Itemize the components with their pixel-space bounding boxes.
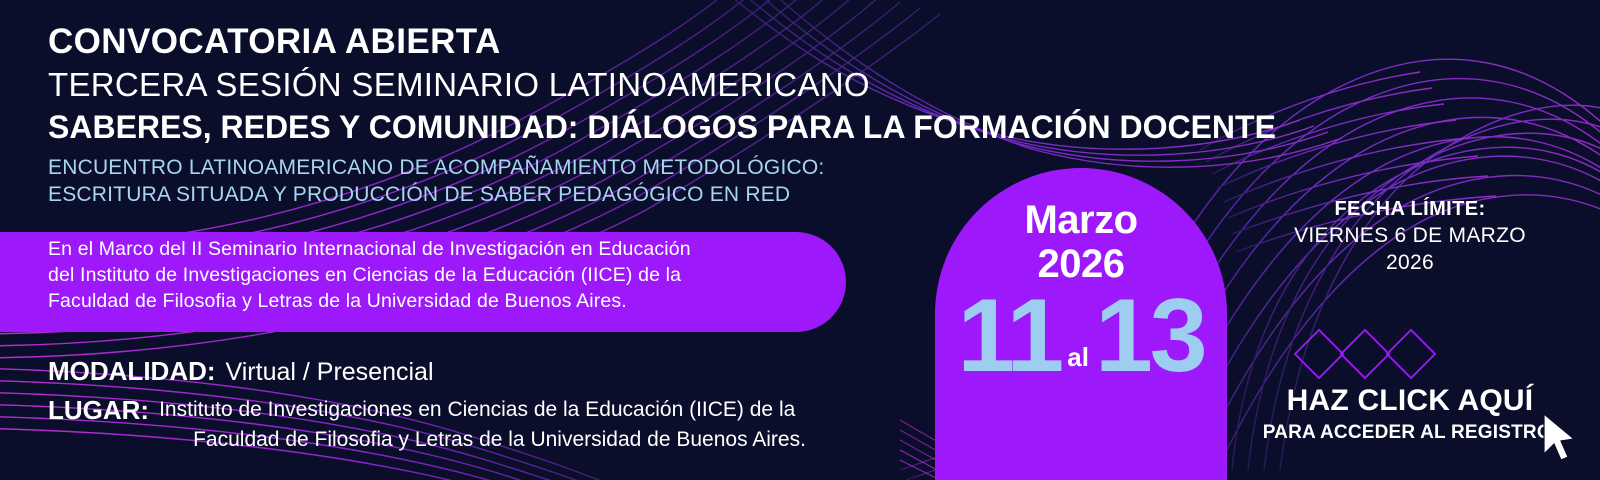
- event-banner: En el Marco del II Seminario Internacion…: [0, 0, 1600, 480]
- deadline-title: FECHA LÍMITE:: [1240, 196, 1580, 222]
- date-range: 11 al 13: [935, 288, 1227, 384]
- cta-block[interactable]: HAZ CLICK AQUÍ PARA ACCEDER AL REGISTRO.: [1240, 382, 1580, 446]
- mouse-cursor-icon: [1540, 412, 1580, 464]
- modalidad-row: MODALIDAD: Virtual / Presencial: [48, 352, 806, 391]
- deadline-line-2: 2026: [1240, 249, 1580, 276]
- context-bubble-line-3: Faculdad de Filosofia y Letras de la Uni…: [48, 288, 818, 314]
- lugar-label: LUGAR:: [48, 391, 149, 429]
- modalidad-label: MODALIDAD:: [48, 352, 216, 390]
- context-bubble-text: En el Marco del II Seminario Internacion…: [48, 236, 818, 314]
- headline-call: CONVOCATORIA ABIERTA: [48, 20, 1548, 64]
- lugar-value: Instituto de Investigaciones en Ciencias…: [149, 391, 806, 455]
- date-connector: al: [1067, 344, 1089, 384]
- date-day-end: 13: [1095, 288, 1205, 384]
- headline-session: TERCERA SESIÓN SEMINARIO LATINOAMERICANO: [48, 64, 1548, 106]
- context-bubble-line-1: En el Marco del II Seminario Internacion…: [48, 236, 818, 262]
- event-details: MODALIDAD: Virtual / Presencial LUGAR: I…: [48, 352, 806, 455]
- headline-block: CONVOCATORIA ABIERTA TERCERA SESIÓN SEMI…: [48, 20, 1548, 208]
- headline-theme: SABERES, REDES Y COMUNIDAD: DIÁLOGOS PAR…: [48, 106, 1548, 148]
- cta-primary-label[interactable]: HAZ CLICK AQUÍ: [1240, 382, 1580, 420]
- lugar-row: LUGAR: Instituto de Investigaciones en C…: [48, 391, 806, 455]
- deadline-block: FECHA LÍMITE: VIERNES 6 DE MARZO 2026: [1240, 196, 1580, 276]
- lugar-value-line-2: Faculdad de Filosofia y Letras de la Uni…: [159, 425, 806, 455]
- date-day-start: 11: [957, 288, 1061, 384]
- date-arch: Marzo 2026 11 al 13: [935, 168, 1227, 480]
- diamond-outline-icon: [1290, 325, 1510, 383]
- context-bubble-line-2: del Instituto de Investigaciones en Cien…: [48, 262, 818, 288]
- cta-secondary-label[interactable]: PARA ACCEDER AL REGISTRO.: [1240, 420, 1580, 446]
- headline-subtitle-line-1: ENCUENTRO LATINOAMERICANO DE ACOMPAÑAMIE…: [48, 154, 1548, 181]
- lugar-value-line-1: Instituto de Investigaciones en Ciencias…: [159, 398, 795, 421]
- deadline-line-1: VIERNES 6 DE MARZO: [1240, 222, 1580, 249]
- modalidad-value: Virtual / Presencial: [216, 353, 434, 391]
